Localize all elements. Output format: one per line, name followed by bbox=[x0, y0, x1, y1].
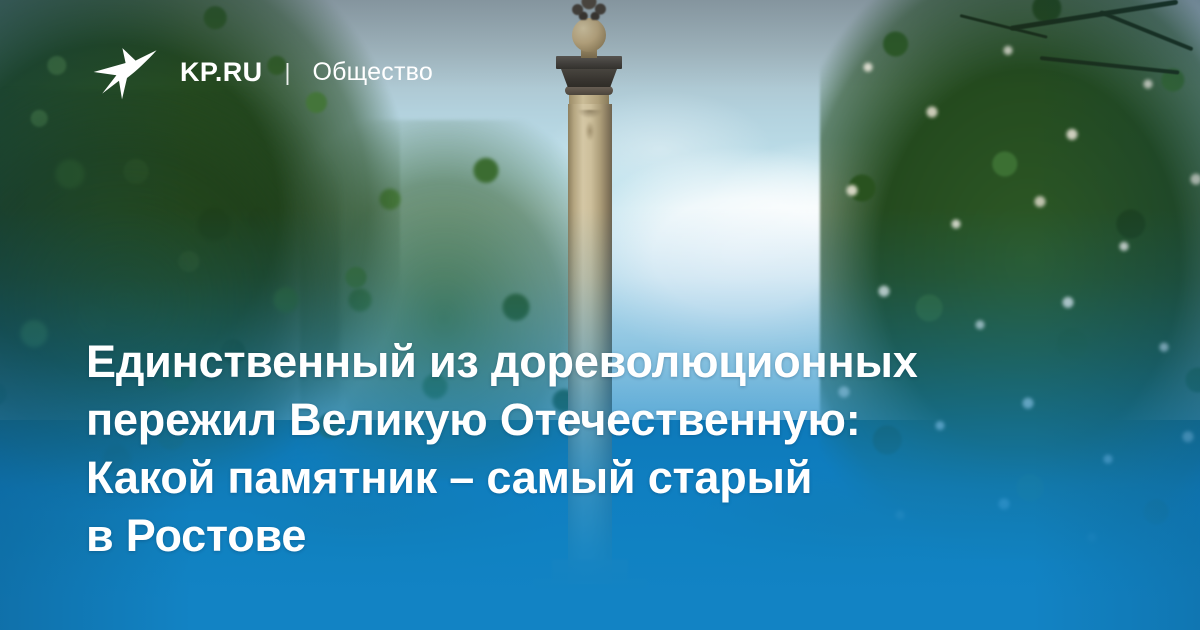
brand-label[interactable]: KP.RU bbox=[180, 57, 263, 88]
headline: Единственный из дореволюционных пережил … bbox=[86, 333, 1046, 565]
headline-line-3: Какой памятник – самый старый bbox=[86, 449, 1046, 507]
headline-line-1: Единственный из дореволюционных bbox=[86, 333, 1046, 391]
card-header: KP.RU | Общество bbox=[92, 44, 433, 100]
headline-line-2: пережил Великую Отечественную: bbox=[86, 391, 1046, 449]
swallow-bird-icon[interactable] bbox=[92, 44, 158, 100]
headline-line-4: в Ростове bbox=[86, 507, 1046, 565]
rubric-label[interactable]: Общество bbox=[313, 58, 433, 87]
header-separator: | bbox=[285, 61, 291, 84]
social-share-card: KP.RU | Общество Единственный из доревол… bbox=[0, 0, 1200, 630]
